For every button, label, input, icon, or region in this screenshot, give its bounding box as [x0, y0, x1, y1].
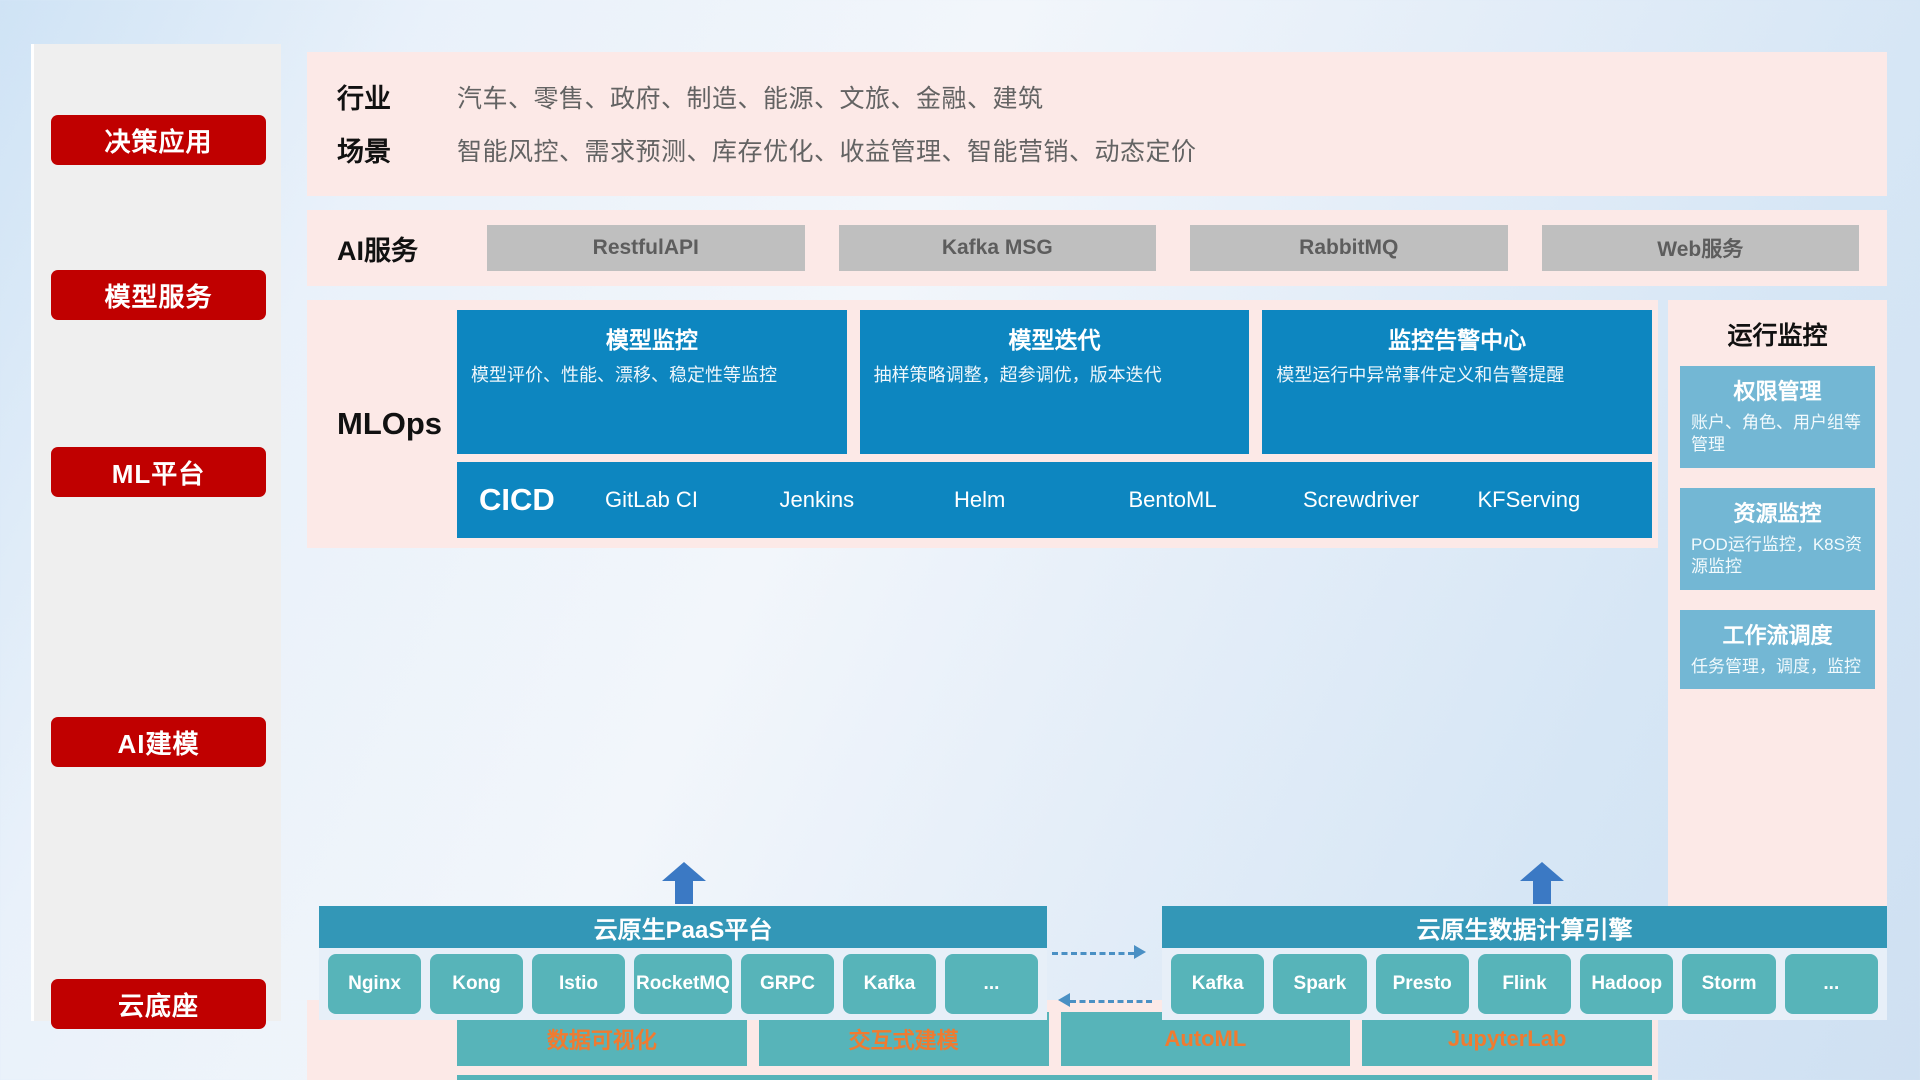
stage-pill-cloud-base[interactable]: 云底座	[51, 979, 266, 1029]
mlops-card-model-iteration[interactable]: 模型迭代 抽样策略调整，超参调优，版本迭代	[860, 310, 1250, 454]
paas-chip-kafka[interactable]: Kafka	[843, 954, 936, 1014]
monitor-card-workflow-scheduling[interactable]: 工作流调度 任务管理，调度，监控	[1680, 610, 1875, 689]
cicd-row: CICD GitLab CI Jenkins Helm BentoML Scre…	[457, 462, 1652, 538]
cicd-label: CICD	[479, 482, 605, 518]
industry-values: 汽车、零售、政府、制造、能源、文旅、金融、建筑	[457, 79, 1044, 115]
mlops-band: MLOps 模型监控 模型评价、性能、漂移、稳定性等监控 模型迭代 抽样策略调整…	[307, 300, 1658, 548]
stage-rail: 决策应用 模型服务 ML平台 AI建模 云底座	[31, 44, 281, 1021]
card-title: 监控告警中心	[1276, 321, 1638, 355]
industry-label: 行业	[337, 77, 457, 116]
dashed-line-right	[1052, 952, 1134, 955]
stage-label: 决策应用	[104, 122, 212, 159]
stage-label: 模型服务	[104, 277, 212, 314]
mlops-label: MLOps	[307, 406, 457, 442]
ai-service-chip-web-service[interactable]: Web服务	[1542, 225, 1860, 271]
cicd-tool-list: GitLab CI Jenkins Helm BentoML Screwdriv…	[605, 487, 1652, 512]
runtime-monitoring-title: 运行监控	[1727, 316, 1827, 352]
card-title: 工作流调度	[1691, 618, 1864, 650]
arrow-head-left-icon	[1058, 993, 1070, 1007]
card-desc: 抽样策略调整，超参调优，版本迭代	[874, 363, 1236, 387]
data-chip-presto[interactable]: Presto	[1376, 954, 1469, 1014]
ai-service-chip-restfulapi[interactable]: RestfulAPI	[487, 225, 805, 271]
cloud-native-data-engine-group: 云原生数据计算引擎 Kafka Spark Presto Flink Hadoo…	[1162, 906, 1887, 1020]
data-chip-storm[interactable]: Storm	[1682, 954, 1775, 1014]
stage-pill-model-service[interactable]: 模型服务	[51, 270, 266, 320]
scenario-row: 场景 智能风控、需求预测、库存优化、收益管理、智能营销、动态定价	[337, 123, 1887, 176]
data-chip-more[interactable]: ...	[1785, 954, 1878, 1014]
ai-service-band: AI服务 RestfulAPI Kafka MSG RabbitMQ Web服务	[307, 210, 1887, 286]
stage-label: AI建模	[117, 724, 199, 761]
band-divider	[307, 196, 1887, 210]
card-desc: 模型运行中异常事件定义和告警提醒	[1276, 363, 1638, 387]
dashed-line-left	[1070, 1000, 1152, 1003]
mlops-card-list: 模型监控 模型评价、性能、漂移、稳定性等监控 模型迭代 抽样策略调整，超参调优，…	[457, 310, 1652, 454]
scenario-label: 场景	[337, 130, 457, 169]
data-engine-chip-list: Kafka Spark Presto Flink Hadoop Storm ..…	[1162, 948, 1887, 1020]
arrow-up-icon-data-engine	[1520, 862, 1564, 904]
scenario-values: 智能风控、需求预测、库存优化、收益管理、智能营销、动态定价	[457, 132, 1197, 168]
ai-service-chip-rabbitmq[interactable]: RabbitMQ	[1190, 225, 1508, 271]
paas-chip-nginx[interactable]: Nginx	[328, 954, 421, 1014]
card-desc: 账户、角色、用户组等管理	[1691, 412, 1864, 457]
stage-pill-ml-platform[interactable]: ML平台	[51, 447, 266, 497]
paas-chip-more[interactable]: ...	[945, 954, 1038, 1014]
paas-chip-list: Nginx Kong Istio RocketMQ GRPC Kafka ...	[319, 948, 1047, 1020]
card-title: 资源监控	[1691, 496, 1864, 528]
ml-open-ecosystem-panel: ML开放生态 ANACONDA.	[457, 1075, 1652, 1080]
mlops-card-alert-center[interactable]: 监控告警中心 模型运行中异常事件定义和告警提醒	[1262, 310, 1652, 454]
paas-chip-grpc[interactable]: GRPC	[741, 954, 834, 1014]
cicd-tool-kfserving[interactable]: KFServing	[1478, 487, 1653, 512]
stage-pill-decision-app[interactable]: 决策应用	[51, 115, 266, 165]
monitor-card-permission-management[interactable]: 权限管理 账户、角色、用户组等管理	[1680, 366, 1875, 468]
cicd-tool-gitlab-ci[interactable]: GitLab CI	[605, 487, 780, 512]
cloud-foundation-section: 云原生PaaS平台 Nginx Kong Istio RocketMQ GRPC…	[307, 862, 1887, 1022]
card-title: 模型监控	[471, 321, 833, 355]
stage-label: 云底座	[118, 986, 199, 1023]
data-chip-kafka[interactable]: Kafka	[1171, 954, 1264, 1014]
ai-service-chip-kafka-msg[interactable]: Kafka MSG	[839, 225, 1157, 271]
paas-chip-istio[interactable]: Istio	[532, 954, 625, 1014]
card-desc: POD运行监控，K8S资源监控	[1691, 534, 1864, 579]
cicd-tool-bentoml[interactable]: BentoML	[1129, 487, 1304, 512]
paas-chip-kong[interactable]: Kong	[430, 954, 523, 1014]
card-title: 模型迭代	[874, 321, 1236, 355]
industry-scenario-band: 行业 汽车、零售、政府、制造、能源、文旅、金融、建筑 场景 智能风控、需求预测、…	[307, 52, 1887, 196]
data-chip-hadoop[interactable]: Hadoop	[1580, 954, 1673, 1014]
data-chip-spark[interactable]: Spark	[1273, 954, 1366, 1014]
stage-label: ML平台	[112, 454, 206, 491]
arrow-up-icon-paas	[662, 862, 706, 904]
cloud-native-paas-group: 云原生PaaS平台 Nginx Kong Istio RocketMQ GRPC…	[319, 906, 1047, 1020]
monitor-card-resource-monitoring[interactable]: 资源监控 POD运行监控，K8S资源监控	[1680, 488, 1875, 590]
industry-row: 行业 汽车、零售、政府、制造、能源、文旅、金融、建筑	[337, 70, 1887, 123]
arrow-head-right-icon	[1134, 945, 1146, 959]
data-engine-title: 云原生数据计算引擎	[1162, 906, 1887, 948]
card-title: 权限管理	[1691, 374, 1864, 406]
ai-service-label: AI服务	[337, 229, 487, 268]
card-desc: 任务管理，调度，监控	[1691, 656, 1864, 678]
bidirectional-connector	[1052, 944, 1160, 1010]
cicd-tool-jenkins[interactable]: Jenkins	[780, 487, 955, 512]
band-divider	[307, 286, 1887, 300]
mlops-card-model-monitoring[interactable]: 模型监控 模型评价、性能、漂移、稳定性等监控	[457, 310, 847, 454]
ml-lab-content: 数据可视化 交互式建模 AutoML JupyterLab ML开放生态 ANA…	[457, 1012, 1658, 1080]
paas-title: 云原生PaaS平台	[319, 906, 1047, 948]
data-chip-flink[interactable]: Flink	[1478, 954, 1571, 1014]
stage-pill-ai-modeling[interactable]: AI建模	[51, 717, 266, 767]
mlops-content: 模型监控 模型评价、性能、漂移、稳定性等监控 模型迭代 抽样策略调整，超参调优，…	[457, 310, 1658, 538]
cicd-tool-helm[interactable]: Helm	[954, 487, 1129, 512]
card-desc: 模型评价、性能、漂移、稳定性等监控	[471, 363, 833, 387]
paas-chip-rocketmq[interactable]: RocketMQ	[634, 954, 732, 1014]
ai-service-chip-list: RestfulAPI Kafka MSG RabbitMQ Web服务	[487, 225, 1887, 271]
cicd-tool-screwdriver[interactable]: Screwdriver	[1303, 487, 1478, 512]
